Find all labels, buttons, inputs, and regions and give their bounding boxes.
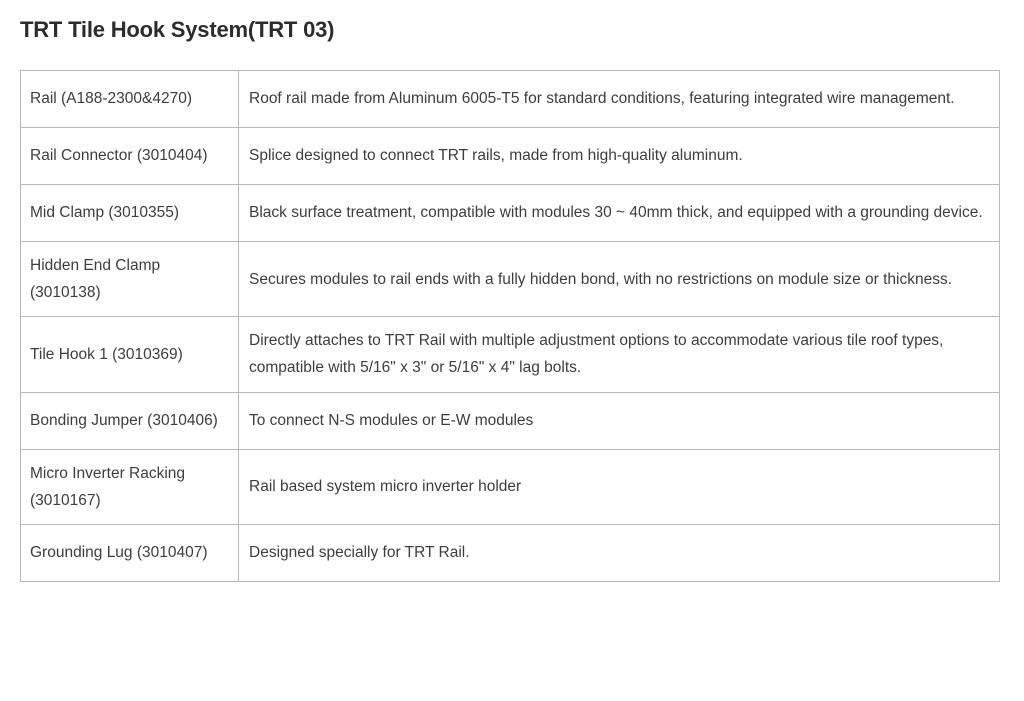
component-description-cell: Splice designed to connect TRT rails, ma…	[239, 128, 1000, 185]
component-description-text: Rail based system micro inverter holder	[249, 473, 985, 500]
component-description-text: Roof rail made from Aluminum 6005-T5 for…	[249, 85, 985, 112]
component-name-cell: Mid Clamp (3010355)	[21, 185, 239, 242]
component-description-cell: Rail based system micro inverter holder	[239, 449, 1000, 524]
component-name-cell: Rail Connector (3010404)	[21, 128, 239, 185]
component-description-cell: Black surface treatment, compatible with…	[239, 185, 1000, 242]
component-name-cell: Rail (A188-2300&4270)	[21, 71, 239, 128]
component-name-text: Tile Hook 1 (3010369)	[30, 341, 224, 368]
component-name-cell: Bonding Jumper (3010406)	[21, 392, 239, 449]
component-description-text: Secures modules to rail ends with a full…	[249, 266, 985, 293]
component-name-text: Grounding Lug (3010407)	[30, 539, 224, 566]
component-description-text: Black surface treatment, compatible with…	[249, 199, 985, 226]
component-name-text: Rail Connector (3010404)	[30, 142, 224, 169]
component-description-cell: Secures modules to rail ends with a full…	[239, 242, 1000, 317]
table-row: Grounding Lug (3010407) Designed special…	[21, 524, 1000, 581]
table-row: Tile Hook 1 (3010369) Directly attaches …	[21, 317, 1000, 392]
table-row: Bonding Jumper (3010406) To connect N-S …	[21, 392, 1000, 449]
component-name-cell: Grounding Lug (3010407)	[21, 524, 239, 581]
component-name-cell: Hidden End Clamp (3010138)	[21, 242, 239, 317]
component-description-text: To connect N-S modules or E-W modules	[249, 407, 985, 434]
component-description-cell: Designed specially for TRT Rail.	[239, 524, 1000, 581]
component-description-text: Designed specially for TRT Rail.	[249, 539, 985, 566]
table-row: Hidden End Clamp (3010138) Secures modul…	[21, 242, 1000, 317]
component-name-text: Hidden End Clamp (3010138)	[30, 252, 224, 306]
component-description-text: Splice designed to connect TRT rails, ma…	[249, 142, 985, 169]
component-name-text: Mid Clamp (3010355)	[30, 199, 224, 226]
component-spec-table: Rail (A188-2300&4270) Roof rail made fro…	[20, 70, 1000, 582]
table-row: Micro Inverter Racking (3010167) Rail ba…	[21, 449, 1000, 524]
table-row: Rail (A188-2300&4270) Roof rail made fro…	[21, 71, 1000, 128]
table-row: Mid Clamp (3010355) Black surface treatm…	[21, 185, 1000, 242]
table-body: Rail (A188-2300&4270) Roof rail made fro…	[21, 71, 1000, 582]
component-name-text: Rail (A188-2300&4270)	[30, 85, 224, 112]
component-name-text: Bonding Jumper (3010406)	[30, 407, 224, 434]
component-name-text: Micro Inverter Racking (3010167)	[30, 460, 224, 514]
component-description-cell: To connect N-S modules or E-W modules	[239, 392, 1000, 449]
table-row: Rail Connector (3010404) Splice designed…	[21, 128, 1000, 185]
component-description-cell: Roof rail made from Aluminum 6005-T5 for…	[239, 71, 1000, 128]
document-page: TRT Tile Hook System(TRT 03) Rail (A188-…	[0, 0, 1024, 701]
component-name-cell: Tile Hook 1 (3010369)	[21, 317, 239, 392]
component-description-cell: Directly attaches to TRT Rail with multi…	[239, 317, 1000, 392]
page-title: TRT Tile Hook System(TRT 03)	[20, 17, 334, 43]
component-description-text: Directly attaches to TRT Rail with multi…	[249, 327, 985, 381]
component-name-cell: Micro Inverter Racking (3010167)	[21, 449, 239, 524]
